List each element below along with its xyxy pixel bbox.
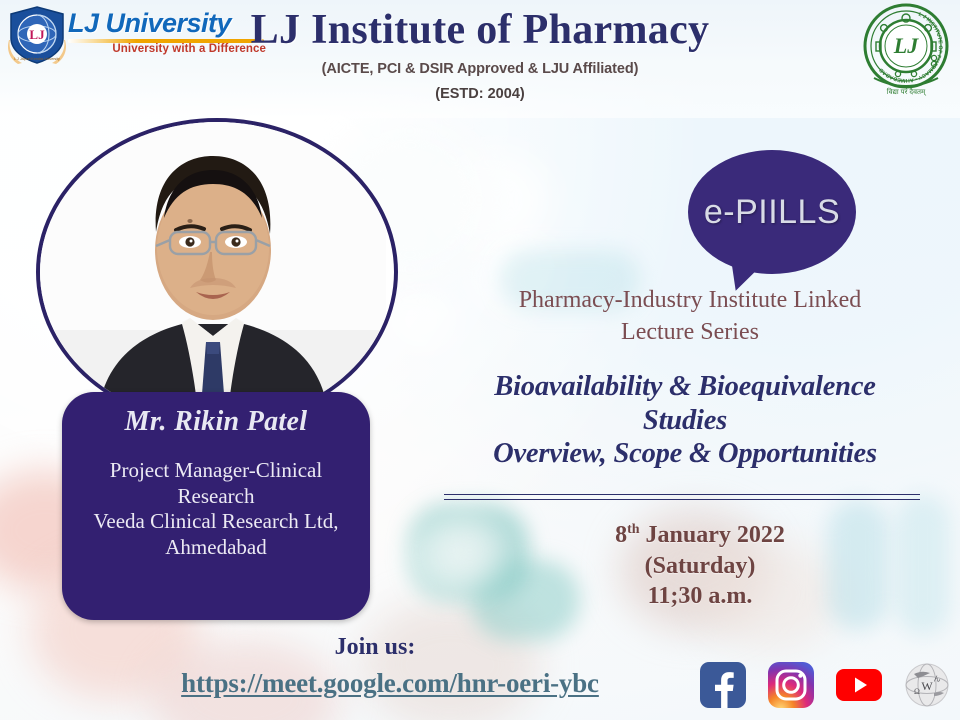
lecture-title-line2: Studies — [420, 404, 950, 438]
social-links: W Ω ん — [700, 662, 950, 708]
event-day-suffix: th — [627, 522, 639, 537]
epiills-badge: e-PIILLS — [688, 150, 856, 274]
svg-text:Ω: Ω — [914, 687, 920, 696]
lecture-title: Bioavailability & Bioequivalence Studies… — [420, 370, 950, 471]
event-weekday: (Saturday) — [540, 551, 860, 582]
lecture-title-line1: Bioavailability & Bioequivalence — [420, 370, 950, 404]
speaker-role-line1: Project Manager-Clinical — [94, 458, 339, 484]
event-month-year: January 2022 — [646, 522, 785, 548]
speaker-details: Project Manager-Clinical Research Veeda … — [94, 458, 339, 560]
page-title: LJ Institute of Pharmacy — [0, 6, 960, 54]
epiills-label: e-PIILLS — [704, 193, 840, 232]
join-label: Join us: — [250, 634, 500, 661]
youtube-icon[interactable] — [836, 662, 882, 708]
speaker-name: Mr. Rikin Patel — [125, 406, 308, 438]
approvals-line: (AICTE, PCI & DSIR Approved & LJU Affili… — [0, 61, 960, 77]
series-line1: Pharmacy-Industry Institute Linked — [440, 285, 940, 317]
event-day: 8 — [615, 522, 627, 548]
series-line2: Lecture Series — [440, 317, 940, 349]
meeting-link[interactable]: https://meet.google.com/hnr-oeri-ybc — [120, 668, 660, 699]
svg-text:ん: ん — [934, 675, 941, 683]
event-date: 8th January 2022 — [540, 520, 860, 551]
event-poster: LJ L J Jaipuri Kendra University LJ Univ… — [0, 0, 960, 720]
event-time: 11;30 a.m. — [540, 581, 860, 612]
svg-text:W: W — [921, 679, 933, 693]
schedule-block: 8th January 2022 (Saturday) 11;30 a.m. — [540, 520, 860, 612]
speaker-affiliation-line2: Ahmedabad — [94, 535, 339, 561]
instagram-icon[interactable] — [768, 662, 814, 708]
lecture-title-line3: Overview, Scope & Opportunities — [420, 437, 950, 471]
speaker-role-line2: Research — [94, 484, 339, 510]
speaker-info-card: Mr. Rikin Patel Project Manager-Clinical… — [62, 392, 370, 620]
facebook-icon[interactable] — [700, 662, 746, 708]
wikipedia-icon[interactable]: W Ω ん — [904, 662, 950, 708]
title-divider — [444, 494, 920, 500]
speaker-affiliation-line1: Veeda Clinical Research Ltd, — [94, 509, 339, 535]
speaker-photo — [36, 118, 398, 426]
series-subtitle: Pharmacy-Industry Institute Linked Lectu… — [440, 285, 940, 349]
established-line: (ESTD: 2004) — [0, 86, 960, 102]
